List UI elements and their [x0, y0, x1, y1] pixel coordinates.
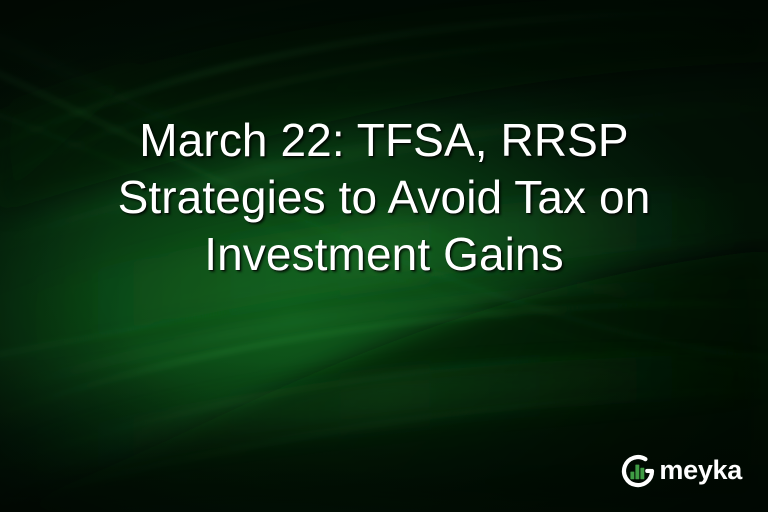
page-title: March 22: TFSA, RRSP Strategies to Avoid… — [0, 112, 768, 283]
title-line-3: Investment Gains — [40, 226, 728, 283]
meyka-logo[interactable]: meyka — [621, 454, 742, 488]
meyka-wordmark: meyka — [659, 457, 742, 484]
promo-card: March 22: TFSA, RRSP Strategies to Avoid… — [0, 0, 768, 512]
meyka-bar-chart-circle-icon — [621, 454, 655, 488]
title-line-2: Strategies to Avoid Tax on — [40, 169, 728, 226]
title-line-1: March 22: TFSA, RRSP — [40, 112, 728, 169]
